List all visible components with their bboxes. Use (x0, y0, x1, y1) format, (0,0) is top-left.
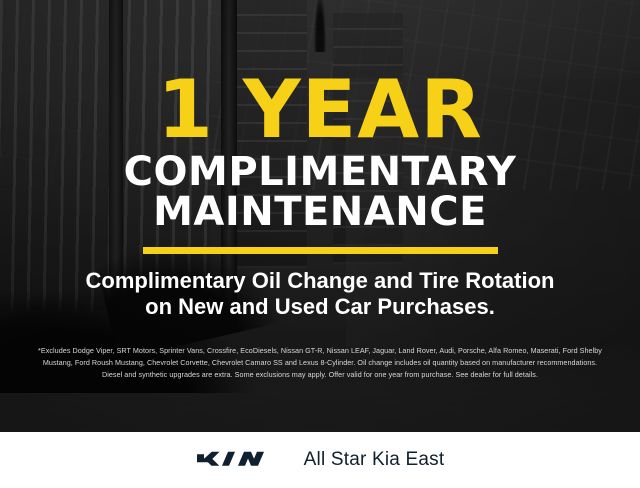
disclaimer-line-3: Diesel and synthetic upgrades are extra.… (14, 369, 626, 381)
promotional-banner: 1 YEAR COMPLIMENTARY MAINTENANCE Complim… (0, 0, 640, 488)
yellow-divider-rule (143, 247, 498, 254)
headline-line-3: MAINTENANCE (153, 191, 487, 233)
disclaimer-line-2: Mustang, Ford Roush Mustang, Chevrolet C… (14, 357, 626, 369)
footer-bar: All Star Kia East (0, 432, 640, 488)
subheadline: Complimentary Oil Change and Tire Rotati… (86, 268, 555, 322)
headline-line-1: 1 YEAR (157, 76, 483, 145)
headline-line-2: COMPLIMENTARY (124, 151, 517, 193)
subheadline-line-2: on New and Used Car Purchases. (86, 294, 555, 321)
subheadline-line-1: Complimentary Oil Change and Tire Rotati… (86, 268, 555, 295)
dealer-name: All Star Kia East (304, 449, 445, 471)
disclaimer-text: *Excludes Dodge Viper, SRT Motors, Sprin… (14, 345, 626, 380)
disclaimer-line-1: *Excludes Dodge Viper, SRT Motors, Sprin… (14, 345, 626, 357)
kia-logo (196, 445, 284, 476)
banner-content: 1 YEAR COMPLIMENTARY MAINTENANCE Complim… (0, 0, 640, 432)
